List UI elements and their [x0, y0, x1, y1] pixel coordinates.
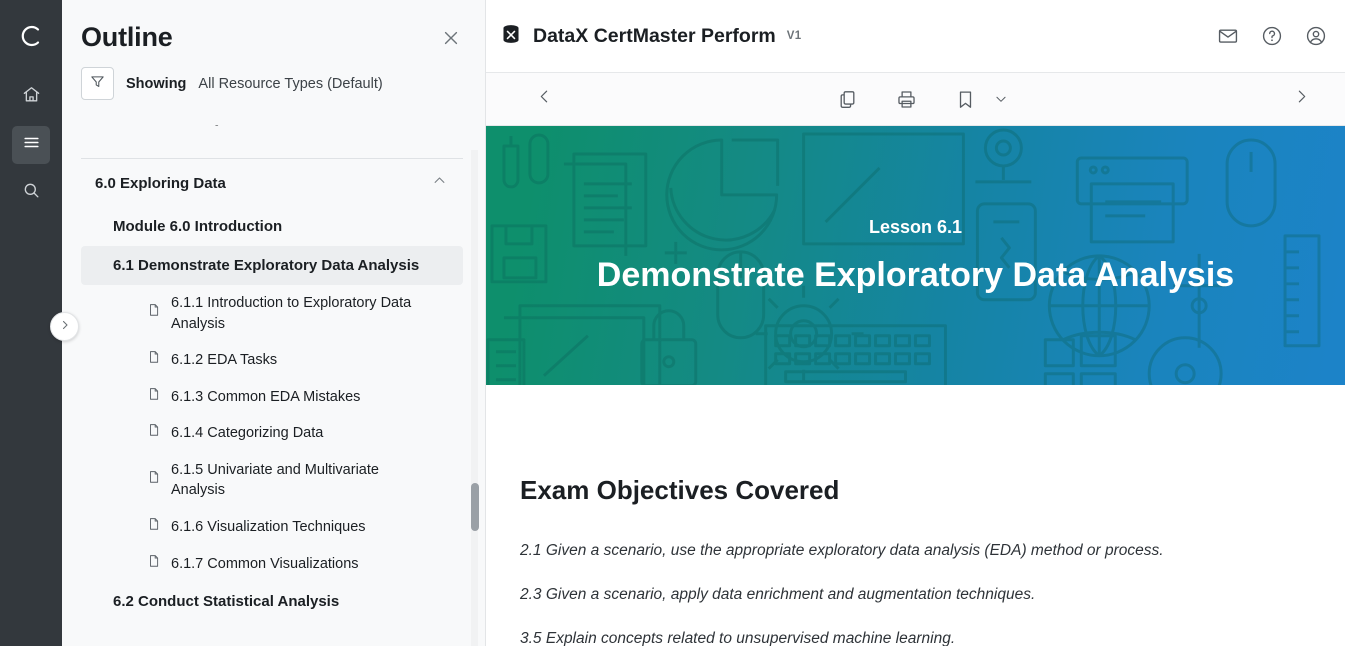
- outline-item-6-1-3[interactable]: 6.1.3 Common EDA Mistakes: [81, 379, 463, 416]
- chevron-down-icon[interactable]: [994, 92, 1008, 106]
- app-header: DataX CertMaster Perform V1: [486, 0, 1345, 73]
- list-item-label: 6.2 Conduct Statistical Analysis: [113, 593, 339, 610]
- outline-item-6-1-2[interactable]: 6.1.2 EDA Tasks: [81, 342, 463, 379]
- outline-scrollbar-track[interactable]: [471, 150, 478, 646]
- next-page-button[interactable]: [1273, 88, 1329, 110]
- document-body: Exam Objectives Covered 2.1 Given a scen…: [486, 385, 1345, 646]
- copy-icon[interactable]: [837, 89, 858, 110]
- list-item-clipped[interactable]: 5.7 Module Quiz: [81, 125, 463, 151]
- outline-panel: Outline Showing All Resource Types (Defa…: [62, 0, 486, 646]
- datax-database-icon: [500, 23, 522, 50]
- objective-item: 2.3 Given a scenario, apply data enrichm…: [520, 586, 1345, 604]
- filter-showing-value[interactable]: All Resource Types (Default): [198, 76, 382, 92]
- list-item-label: 6.1.1 Introduction to Exploratory Data A…: [171, 293, 426, 334]
- previous-page-button[interactable]: [516, 88, 572, 110]
- user-circle-icon[interactable]: [1305, 25, 1327, 47]
- document-icon: [147, 303, 161, 324]
- mail-icon[interactable]: [1217, 25, 1239, 47]
- document-icon: [147, 387, 161, 408]
- list-item-label: 6.1.4 Categorizing Data: [171, 423, 323, 444]
- print-icon[interactable]: [896, 89, 917, 110]
- product-version: V1: [787, 30, 802, 42]
- chevron-right-icon: [59, 318, 71, 336]
- document-icon: [111, 125, 125, 128]
- content-pane: DataX CertMaster Perform V1: [486, 0, 1345, 646]
- outline-tree: 5.7 Module Quiz 6.0 Exploring Data Modul…: [62, 125, 485, 646]
- banner-lesson-label: Lesson 6.1: [869, 217, 962, 238]
- outline-item-6-1-5[interactable]: 6.1.5 Univariate and Multivariate Analys…: [81, 452, 463, 509]
- objective-item: 2.1 Given a scenario, use the appropriat…: [520, 542, 1345, 560]
- page-title: Outline: [81, 22, 173, 53]
- toolbar-actions: [572, 89, 1273, 110]
- chevron-left-icon: [536, 88, 553, 110]
- outline-group-header[interactable]: 6.0 Exploring Data: [81, 159, 463, 207]
- outline-scrollbar-thumb[interactable]: [471, 483, 479, 531]
- outline-item-6-1-7[interactable]: 6.1.7 Common Visualizations: [81, 546, 463, 583]
- list-item-label: Module 6.0 Introduction: [113, 218, 282, 235]
- filter-funnel-icon: [89, 73, 106, 95]
- outline-item-6-1-selected[interactable]: 6.1 Demonstrate Exploratory Data Analysi…: [81, 246, 463, 285]
- chevron-up-icon[interactable]: [432, 173, 447, 193]
- sidebar-item-search[interactable]: [12, 174, 50, 212]
- list-item-label: 6.1.3 Common EDA Mistakes: [171, 387, 360, 408]
- objective-item: 3.5 Explain concepts related to unsuperv…: [520, 630, 1345, 646]
- chevron-right-icon: [1293, 88, 1310, 110]
- banner-title: Demonstrate Exploratory Data Analysis: [557, 256, 1274, 295]
- bookmark-icon[interactable]: [955, 89, 976, 110]
- close-outline-button[interactable]: [441, 22, 461, 53]
- list-item-label: 6.1.2 EDA Tasks: [171, 350, 277, 371]
- list-item-label: 6.1.7 Common Visualizations: [171, 554, 359, 575]
- header-actions: [1217, 25, 1327, 47]
- filter-button[interactable]: [81, 67, 114, 100]
- document-icon: [147, 423, 161, 444]
- help-circle-icon[interactable]: [1261, 25, 1283, 47]
- outline-item-module-intro[interactable]: Module 6.0 Introduction: [81, 207, 463, 246]
- outline-item-6-1-1[interactable]: 6.1.1 Introduction to Exploratory Data A…: [81, 285, 463, 342]
- outline-item-6-1-6[interactable]: 6.1.6 Visualization Techniques: [81, 509, 463, 546]
- document-icon: [147, 350, 161, 371]
- close-icon: [441, 35, 461, 52]
- outline-item-6-1-4[interactable]: 6.1.4 Categorizing Data: [81, 415, 463, 452]
- app-root: Outline Showing All Resource Types (Defa…: [0, 0, 1345, 646]
- outline-header: Outline: [62, 0, 485, 53]
- outline-group-label: 6.0 Exploring Data: [95, 175, 226, 192]
- list-item-label: 5.7 Module Quiz: [133, 125, 239, 127]
- section-heading: Exam Objectives Covered: [520, 475, 1345, 506]
- list-item-label: 6.1.5 Univariate and Multivariate Analys…: [171, 460, 426, 501]
- sidebar-item-outline[interactable]: [12, 126, 50, 164]
- lesson-banner: Lesson 6.1 Demonstrate Exploratory Data …: [486, 126, 1345, 385]
- document-toolbar: [486, 73, 1345, 126]
- filter-showing-label: Showing: [126, 76, 186, 92]
- list-item-label: 6.1.6 Visualization Techniques: [171, 517, 366, 538]
- c-logo-icon: [11, 16, 51, 56]
- document-icon: [147, 470, 161, 491]
- document-icon: [147, 517, 161, 538]
- brand: DataX CertMaster Perform V1: [500, 23, 801, 50]
- filter-row: Showing All Resource Types (Default): [62, 53, 485, 100]
- sidebar-item-home[interactable]: [12, 78, 50, 116]
- expand-panel-button[interactable]: [50, 312, 79, 341]
- search-icon: [22, 181, 41, 205]
- document-icon: [147, 554, 161, 575]
- home-icon: [22, 85, 41, 109]
- outline-item-6-2[interactable]: 6.2 Conduct Statistical Analysis: [81, 582, 463, 621]
- hamburger-menu-icon: [22, 133, 41, 157]
- product-title: DataX CertMaster Perform: [533, 25, 776, 48]
- list-item-label: 6.1 Demonstrate Exploratory Data Analysi…: [113, 257, 419, 274]
